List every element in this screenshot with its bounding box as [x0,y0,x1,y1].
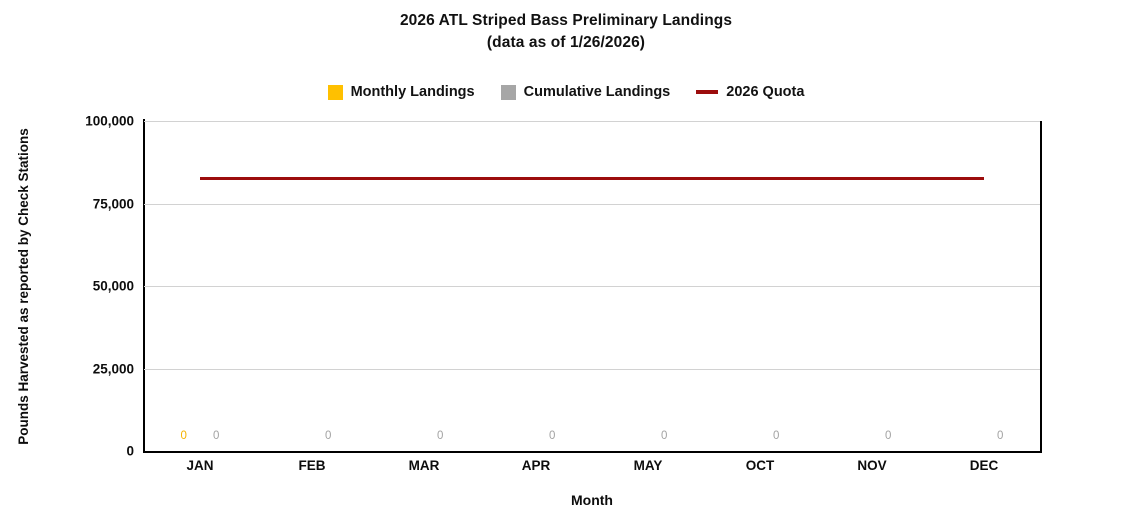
y-axis-title: Pounds Harvested as reported by Check St… [12,121,34,451]
legend-label-cumulative-landings: Cumulative Landings [524,84,671,100]
data-label-cumulative: 0 [437,430,443,442]
data-label-cumulative: 0 [213,430,219,442]
gridline [144,204,1040,205]
x-axis-tick-label: DEC [928,458,1040,473]
legend-swatch-cumulative-landings [501,85,516,100]
chart-title-line1: 2026 ATL Striped Bass Preliminary Landin… [400,12,732,29]
legend-entry-cumulative-landings[interactable]: Cumulative Landings [501,84,671,100]
data-label-cumulative: 0 [325,430,331,442]
plot-area: 000000000 [144,121,1042,453]
x-axis-tick-label: APR [480,458,592,473]
x-axis-tick-label: NOV [816,458,928,473]
legend-swatch-monthly-landings [328,85,343,100]
legend-entry-quota[interactable]: 2026 Quota [696,84,804,100]
legend-label-quota: 2026 Quota [726,84,804,100]
legend-line-quota [696,90,718,94]
y-axis-tick-label: 75,000 [44,196,134,211]
legend-entry-monthly-landings[interactable]: Monthly Landings [328,84,475,100]
chart-container: 2026 ATL Striped Bass Preliminary Landin… [0,0,1132,531]
x-axis-tick-label: JAN [144,458,256,473]
data-label-cumulative: 0 [997,430,1003,442]
data-label-cumulative: 0 [885,430,891,442]
chart-legend: Monthly Landings Cumulative Landings 202… [0,84,1132,100]
y-axis-tick-label: 100,000 [44,114,134,129]
y-axis-tick-label: 0 [44,444,134,459]
x-axis-tick-label: MAR [368,458,480,473]
x-axis-title: Month [144,492,1040,508]
y-axis-tick-label: 50,000 [44,279,134,294]
y-axis-tick-label: 25,000 [44,361,134,376]
gridline [144,286,1040,287]
x-axis-tick-label: OCT [704,458,816,473]
x-axis-tick-label: MAY [592,458,704,473]
gridline [144,369,1040,370]
gridline [144,121,1040,122]
y-axis-title-text: Pounds Harvested as reported by Check St… [16,128,31,445]
data-label-cumulative: 0 [661,430,667,442]
quota-line [200,177,984,180]
chart-title-line2: (data as of 1/26/2026) [0,32,1132,54]
data-label-cumulative: 0 [549,430,555,442]
chart-title: 2026 ATL Striped Bass Preliminary Landin… [0,10,1132,54]
legend-label-monthly-landings: Monthly Landings [351,84,475,100]
data-label-monthly: 0 [181,430,187,442]
data-label-cumulative: 0 [773,430,779,442]
x-axis-tick-label: FEB [256,458,368,473]
